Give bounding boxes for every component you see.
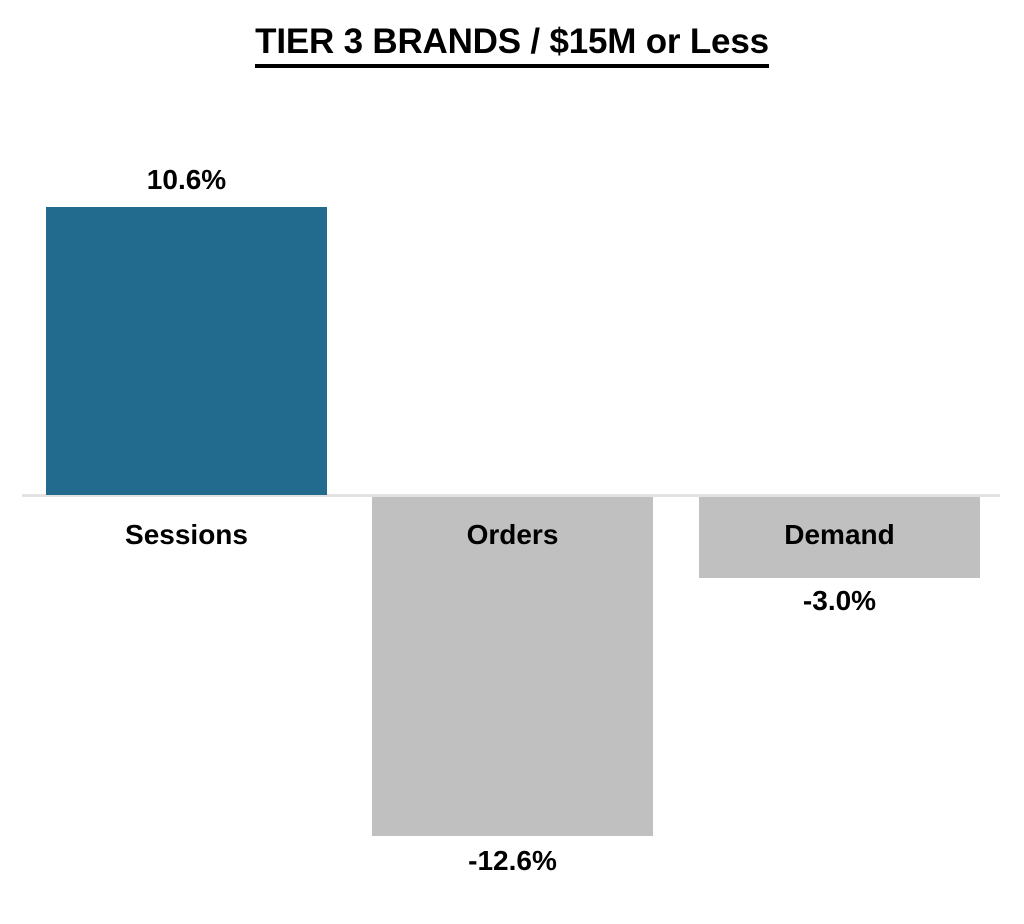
category-label-sessions: Sessions [46, 519, 327, 551]
value-label-demand: -3.0% [699, 585, 980, 617]
value-label-orders: -12.6% [372, 845, 653, 877]
category-label-demand: Demand [699, 519, 980, 551]
value-label-sessions: 10.6% [46, 164, 327, 196]
bar-chart: TIER 3 BRANDS / $15M or Less 10.6% Sessi… [0, 0, 1024, 924]
plot-area: 10.6% Sessions -12.6% Orders -3.0% Deman… [0, 0, 1024, 924]
category-label-orders: Orders [372, 519, 653, 551]
bar-sessions[interactable] [46, 207, 327, 495]
